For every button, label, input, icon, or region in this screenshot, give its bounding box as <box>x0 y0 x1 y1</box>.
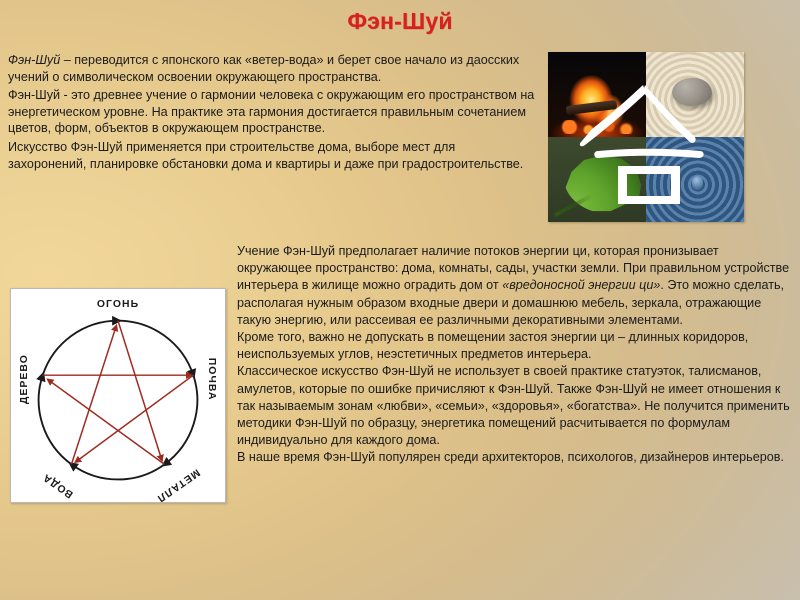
five-elements-svg: ОГОНЬ ПОЧВА МЕТАЛЛ ВОДА ДЕРЕВО <box>11 289 225 502</box>
zen-stone-icon <box>672 78 711 106</box>
wuxing-label-metal: МЕТАЛЛ <box>154 466 201 502</box>
collage-quadrant-leaf-icon <box>548 137 646 222</box>
intro-paragraph-1: Фэн-Шуй – переводится с японского как «в… <box>8 52 535 85</box>
intro-paragraph-1-rest: – переводится с японского как «ветер-вод… <box>8 53 519 84</box>
overcoming-cycle-pentagram <box>43 321 194 465</box>
body-emphasis-harmful-qi: «вредоносной энергии ци» <box>502 278 660 292</box>
wuxing-label-earth: ПОЧВА <box>206 358 217 401</box>
four-elements-collage-image <box>548 52 744 222</box>
body-paragraph-4: В наше время Фэн-Шуй популярен среди арх… <box>237 449 795 466</box>
body-text-block: Учение Фэн-Шуй предполагает наличие пото… <box>237 243 795 467</box>
generating-cycle-arcs <box>39 321 198 480</box>
page-title: Фэн-Шуй <box>0 8 800 35</box>
intro-paragraph-2: Фэн-Шуй - это древнее учение о гармонии … <box>8 87 535 137</box>
embers-icon <box>554 120 640 134</box>
collage-quadrant-sand-icon <box>646 52 744 137</box>
intro-paragraph-3: Искусство Фэн-Шуй применяется при строит… <box>8 139 535 172</box>
body-paragraph-2: Кроме того, важно не допускать в помещен… <box>237 329 795 363</box>
body-paragraph-1: Учение Фэн-Шуй предполагает наличие пото… <box>237 243 795 329</box>
wuxing-label-water: ВОДА <box>41 471 76 500</box>
collage-quadrant-water-icon <box>646 137 744 222</box>
body-paragraph-3: Классическое искусство Фэн-Шуй не исполь… <box>237 363 795 449</box>
intro-lead-term: Фэн-Шуй <box>8 53 60 67</box>
five-elements-diagram: ОГОНЬ ПОЧВА МЕТАЛЛ ВОДА ДЕРЕВО <box>10 288 226 503</box>
wuxing-label-fire: ОГОНЬ <box>97 299 139 310</box>
wuxing-label-wood: ДЕРЕВО <box>19 354 30 404</box>
firewood-log-icon <box>565 100 617 115</box>
water-droplet-icon <box>692 176 703 190</box>
slide-canvas: Фэн-Шуй Фэн-Шуй – переводится с японског… <box>0 0 800 600</box>
collage-quadrant-fire-icon <box>548 52 646 137</box>
intro-text-block: Фэн-Шуй – переводится с японского как «в… <box>8 52 535 174</box>
